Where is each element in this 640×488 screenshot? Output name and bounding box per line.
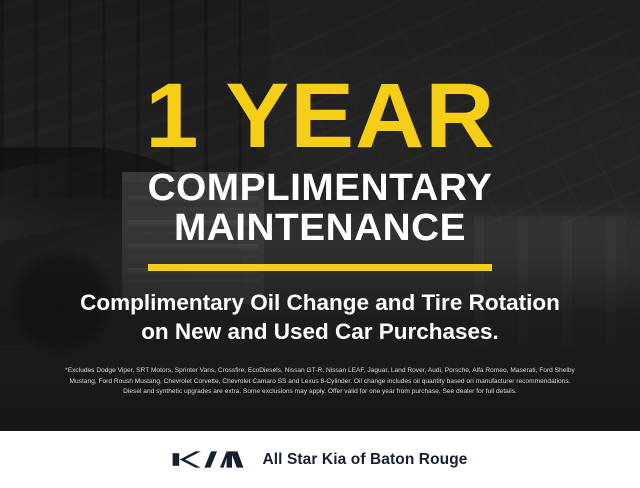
subhead-line-2: MAINTENANCE (148, 209, 493, 249)
disclaimer-line-3: Diesel and synthetic upgrades are extra.… (12, 387, 628, 398)
banner-content: 1 YEAR COMPLIMENTARY MAINTENANCE Complim… (0, 0, 640, 431)
promo-line-1: Complimentary Oil Change and Tire Rotati… (80, 290, 560, 315)
promotional-banner: 1 YEAR COMPLIMENTARY MAINTENANCE Complim… (0, 0, 640, 488)
disclaimer-line-2: Mustang, Ford Roush Mustang, Chevrolet C… (12, 377, 628, 388)
promo-description: Complimentary Oil Change and Tire Rotati… (80, 289, 560, 346)
disclaimer-line-1: *Excludes Dodge Viper, SRT Motors, Sprin… (12, 366, 628, 377)
dealer-name: All Star Kia of Baton Rouge (262, 451, 467, 469)
kia-logo (172, 449, 244, 470)
headline-one-year: 1 YEAR (145, 74, 495, 159)
promo-line-2: on New and Used Car Purchases. (80, 318, 560, 346)
yellow-divider-rule (148, 264, 492, 271)
disclaimer-text: *Excludes Dodge Viper, SRT Motors, Sprin… (12, 366, 628, 398)
subhead-line-1: COMPLIMENTARY (148, 167, 493, 209)
dealer-footer: All Star Kia of Baton Rouge (0, 431, 640, 488)
subhead-block: COMPLIMENTARY MAINTENANCE (148, 169, 493, 249)
